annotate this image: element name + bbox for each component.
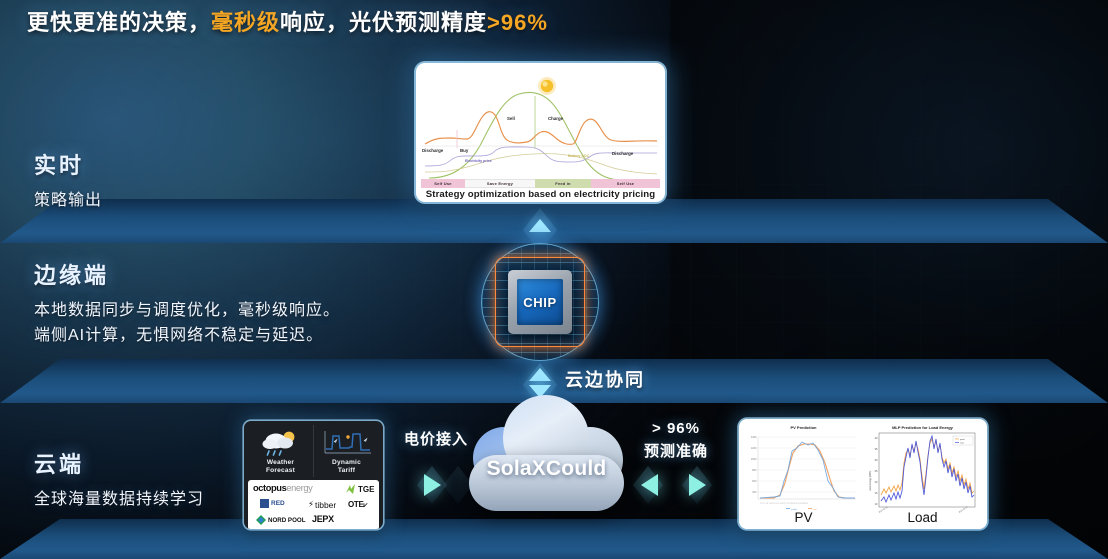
headline-highlight: 毫秒级 <box>211 10 280 35</box>
weather-cloud-rain-sun-icon <box>259 428 303 458</box>
tile-dynamic-tariff[interactable]: Dynamic Tariff <box>313 425 379 477</box>
tibber-logo: ⚡tibber <box>308 499 336 510</box>
tier-title-edge: 边缘端 <box>34 258 340 290</box>
strategy-segment-self-use-2: Self Use <box>591 179 660 188</box>
svg-text:1400: 1400 <box>751 435 757 439</box>
play-right-icon[interactable] <box>424 474 441 496</box>
pv-chart-svg: 140012001000 800600400 1 3 5 7 9 11 13 1… <box>744 429 862 515</box>
strategy-label-charge: Charge <box>548 116 563 121</box>
svg-text:1200: 1200 <box>751 446 757 450</box>
strategy-chart-caption: Strategy optimization based on electrici… <box>416 189 665 200</box>
tile-weather-caption-line2: Forecast <box>266 467 295 475</box>
prediction-charts-card[interactable]: PV Prediction 140012001000 800600400 1 3… <box>739 419 987 529</box>
svg-text:10: 10 <box>875 502 878 506</box>
strategy-segment-save-energy: Save Energy <box>465 179 535 188</box>
data-sources-card[interactable]: Weather Forecast Dynamic Tariff octopuse… <box>244 421 383 529</box>
svg-text:15: 15 <box>875 491 878 495</box>
play-left-icon[interactable] <box>641 474 658 496</box>
play-right-icon-2[interactable] <box>689 474 706 496</box>
chip-label: CHIP <box>523 295 556 310</box>
strategy-series-label-soc: Battery SOC <box>568 154 589 158</box>
annotation-accuracy-value: > 96% <box>628 420 724 437</box>
cloud-name-label: SolaXCould <box>465 457 628 481</box>
solax-cloud-graphic[interactable]: SolaXCould <box>465 413 628 517</box>
svg-text:1 3 5 7 9 11 13 15 17 19 21 23: 1 3 5 7 9 11 13 15 17 19 21 23 25 27 29 … <box>760 503 808 505</box>
tier-subtitle-realtime: 策略输出 <box>34 189 102 214</box>
nord-pool-logo: NORD POOL <box>256 515 305 525</box>
chip-package: CHIP <box>508 270 572 334</box>
strategy-label-buy: Buy <box>460 148 468 153</box>
strategy-label-discharge-right: Discharge <box>612 151 633 156</box>
svg-text:pred: pred <box>960 438 965 441</box>
headline-accent-value: >96% <box>487 10 548 35</box>
annotation-price-feed-text: 电价接入 <box>393 428 479 449</box>
svg-text:800: 800 <box>752 468 757 472</box>
tier-label-edge: 边缘端 本地数据同步与调度优化，毫秒级响应。 端侧AI计算，无惧网络不稳定与延迟… <box>34 258 340 349</box>
svg-text:40: 40 <box>875 436 878 440</box>
strategy-label-discharge-left: Discharge <box>422 148 443 153</box>
tier-subtitle-cloud: 全球海量数据持续学习 <box>34 488 204 513</box>
svg-text:600: 600 <box>752 479 757 483</box>
jepx-logo: JEPX <box>312 514 334 524</box>
sun-icon <box>538 77 556 95</box>
red-electrica-logo: RED <box>260 499 285 508</box>
strategy-label-sell: Sell <box>507 116 515 121</box>
svg-text:1000: 1000 <box>751 457 757 461</box>
headline-part2: 响应，光伏预测精度 <box>280 10 487 35</box>
pv-prediction-chart: PV Prediction 140012001000 800600400 1 3… <box>744 423 863 525</box>
tile-tariff-caption-line2: Tariff <box>338 467 355 475</box>
strategy-segment-feed-in: Feed in <box>535 179 591 188</box>
dynamic-tariff-chart-icon <box>319 428 375 458</box>
annotation-accuracy: > 96% 预测准确 <box>628 420 724 461</box>
tier-label-realtime: 实时 策略输出 <box>34 148 102 214</box>
load-prediction-chart: MLP Prediction for Load Energy 403530 25… <box>863 423 982 525</box>
tier-label-cloud: 云端 全球海量数据持续学习 <box>34 447 204 513</box>
annotation-price-feed: 电价接入 <box>393 428 479 449</box>
page-headline: 更快更准的决策，毫秒级响应，光伏预测精度>96% <box>27 5 548 37</box>
data-sources-tiles: Weather Forecast Dynamic Tariff <box>248 425 379 477</box>
ote-logo: OTE⩗ <box>348 500 367 510</box>
tile-tariff-caption-line1: Dynamic <box>332 459 361 467</box>
strategy-chart-svg <box>421 68 660 186</box>
load-chart-svg: 403530 252015 10 Load Energy (kWh) pred … <box>863 429 981 519</box>
svg-text:Load Energy (kWh): Load Energy (kWh) <box>869 471 872 492</box>
octopus-energy-logo: octopusenergy <box>253 483 312 493</box>
chip-die: CHIP <box>517 279 563 325</box>
tier-subtitle-edge-line2: 端侧AI计算，无惧网络不稳定与延迟。 <box>34 324 340 349</box>
headline-part1: 更快更准的决策， <box>27 10 211 35</box>
data-sources-logo-grid: octopusenergy TGE RED ⚡tibber OTE⩗ NORD … <box>248 480 379 529</box>
tier-subtitle-edge-line1: 本地数据同步与调度优化，毫秒级响应。 <box>34 299 340 324</box>
arrow-up-small-icon <box>529 368 551 381</box>
svg-text:400: 400 <box>752 490 757 494</box>
edge-chip-module[interactable]: CHIP <box>481 243 599 361</box>
strategy-chart-card[interactable]: Discharge Buy Sell Charge Discharge Elec… <box>416 63 665 202</box>
svg-text:20: 20 <box>875 480 878 484</box>
svg-text:30: 30 <box>875 458 878 462</box>
cloud-edge-coop-label: 云边协同 <box>565 366 645 392</box>
load-chart-footer: Load <box>863 510 982 525</box>
annotation-accuracy-text: 预测准确 <box>628 440 724 461</box>
tile-weather-forecast[interactable]: Weather Forecast <box>248 425 313 477</box>
tile-weather-caption-line1: Weather <box>267 459 294 467</box>
pv-chart-footer: PV <box>744 510 863 525</box>
tge-logo: TGE <box>344 482 379 497</box>
tier-title-cloud: 云端 <box>34 447 204 479</box>
svg-text:35: 35 <box>875 447 878 451</box>
strategy-segment-self-use-1: Self Use <box>421 179 465 188</box>
strategy-series-label-price: Electricity price <box>465 159 492 163</box>
tier-title-realtime: 实时 <box>34 148 102 180</box>
svg-text:25: 25 <box>875 469 878 473</box>
svg-text:real: real <box>960 442 964 445</box>
